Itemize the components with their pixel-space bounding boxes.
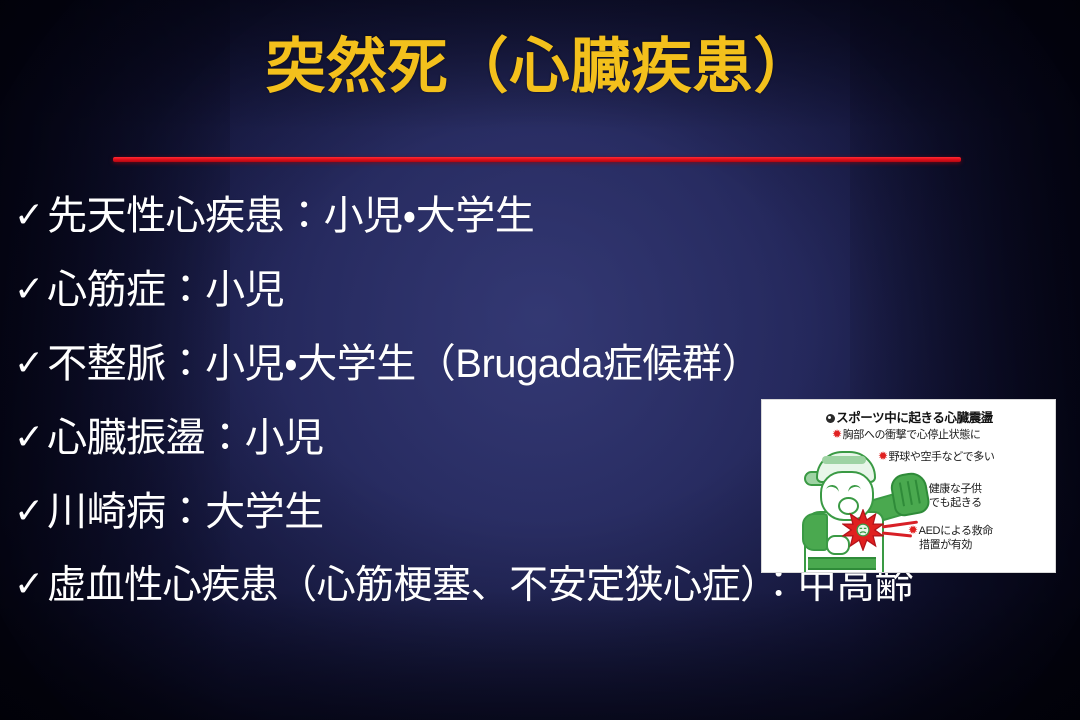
- sleeve-shape: [802, 513, 828, 551]
- illustration-caption-1-text: 胸部への衝撃で心停止状態に: [843, 429, 981, 441]
- star-icon: ✹: [832, 427, 842, 441]
- baseball-icon: [826, 414, 835, 423]
- check-icon: ✓: [14, 566, 44, 602]
- list-item-label: 心臓振盪：小児: [47, 418, 324, 458]
- list-item: ✓ 虚血性心疾患（心筋梗塞、不安定狭心症）：中高齢: [14, 566, 1064, 640]
- list-item: ✓ 心筋症：小児: [14, 270, 1064, 344]
- title-divider-rule: [113, 157, 961, 162]
- slide-title: 突然死（心臓疾患）: [0, 34, 1080, 100]
- illustration-caption-4-text-2: 措置が有効: [919, 539, 972, 551]
- illustration-caption-3-text-2: でも起きる: [929, 497, 982, 509]
- illustration-title: スポーツ中に起きる心臓震盪: [768, 407, 1051, 426]
- illustration-title-text: スポーツ中に起きる心臓震盪: [836, 411, 993, 425]
- illustration-canvas: スポーツ中に起きる心臓震盪 ✹胸部への衝撃で心停止状態に ✹野球や空手などで多い…: [768, 405, 1051, 568]
- slide-canvas: 突然死（心臓疾患） ✓ 先天性心疾患：小児・大学生 ✓ 心筋症：小児 ✓ 不整脈…: [0, 0, 1080, 720]
- illustration-caption-1: ✹胸部への衝撃で心停止状態に: [832, 427, 980, 443]
- cap-stripe-shape: [822, 456, 866, 464]
- impact-line: [882, 531, 912, 537]
- illustration-caption-3-text: 健康な子供: [929, 483, 982, 495]
- impact-burst-icon: [842, 509, 884, 551]
- baseball-glove-icon: [889, 470, 932, 518]
- illustration-caption-4-text: AEDによる救命: [919, 525, 993, 537]
- list-item: ✓ 先天性心疾患：小児・大学生: [14, 196, 1064, 270]
- impact-line: [882, 521, 918, 528]
- list-item-label: 先天性心疾患：小児・大学生: [47, 196, 534, 236]
- embedded-illustration: スポーツ中に起きる心臓震盪 ✹胸部への衝撃で心停止状態に ✹野球や空手などで多い…: [761, 399, 1056, 573]
- belt-shape: [808, 557, 876, 570]
- check-icon: ✓: [14, 345, 44, 381]
- boy-illustration: [786, 449, 926, 573]
- list-item-label: 不整脈：小児・大学生（Brugada症候群）: [47, 344, 761, 384]
- check-icon: ✓: [14, 419, 44, 455]
- list-item-label: 川崎病：大学生: [47, 492, 324, 532]
- check-icon: ✓: [14, 493, 44, 529]
- list-item-label: 心筋症：小児: [47, 270, 284, 310]
- check-icon: ✓: [14, 271, 44, 307]
- check-icon: ✓: [14, 197, 44, 233]
